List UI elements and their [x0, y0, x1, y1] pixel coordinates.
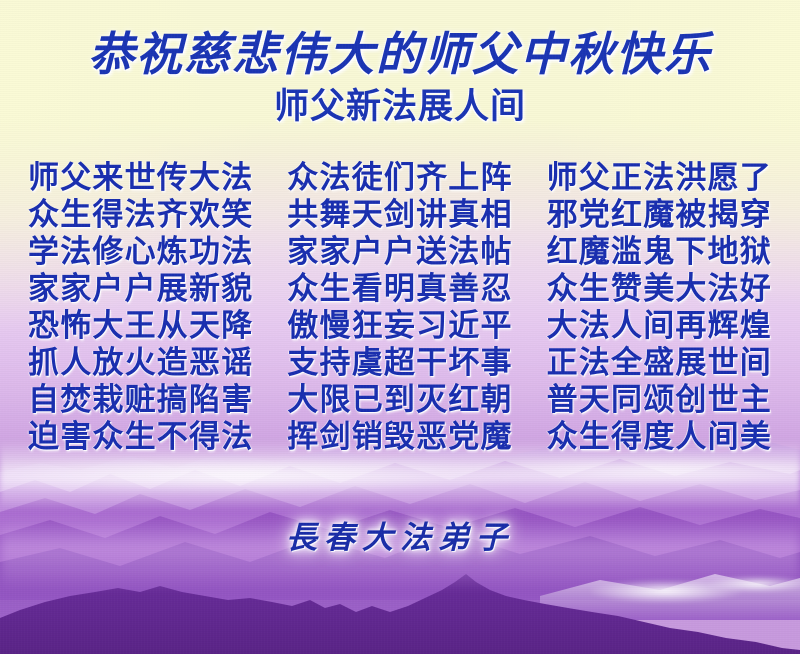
poem-line: 支持虞超干坏事: [287, 345, 512, 382]
signature-line: 長春大法弟子: [0, 512, 800, 557]
poem-column-2: 众法徒们齐上阵 共舞天剑讲真相 家家户户送法帖 众生看明真善忍 傲慢狂妄习近平 …: [287, 160, 512, 456]
poem-line: 众生得法齐欢笑: [28, 197, 253, 234]
poem-line: 大限已到灭红朝: [287, 382, 512, 419]
poem-block: 师父来世传大法 众生得法齐欢笑 学法修心炼功法 家家户户展新貌 恐怖大王从天降 …: [28, 160, 772, 456]
poem-line: 众生看明真善忍: [287, 271, 512, 308]
poem-line: 众生得度人间美: [547, 419, 772, 456]
poem-line: 师父正法洪愿了: [547, 160, 772, 197]
poem-line: 正法全盛展世间: [547, 345, 772, 382]
poem-line: 家家户户送法帖: [287, 234, 512, 271]
poem-line: 自焚栽赃搞陷害: [28, 382, 253, 419]
poem-line: 学法修心炼功法: [28, 234, 253, 271]
poem-line: 抓人放火造恶谣: [28, 345, 253, 382]
poem-line: 众法徒们齐上阵: [287, 160, 512, 197]
card-content: 恭祝慈悲伟大的师父中秋快乐 师父新法展人间 师父来世传大法 众生得法齐欢笑 学法…: [0, 0, 800, 654]
poem-line: 邪党红魔被揭穿: [547, 197, 772, 234]
poem-line: 恐怖大王从天降: [28, 308, 253, 345]
poem-line: 众生赞美大法好: [547, 271, 772, 308]
page-title: 恭祝慈悲伟大的师父中秋快乐: [0, 18, 800, 84]
poem-line: 迫害众生不得法: [28, 419, 253, 456]
poem-column-3: 师父正法洪愿了 邪党红魔被揭穿 红魔滥鬼下地狱 众生赞美大法好 大法人间再辉煌 …: [547, 160, 772, 456]
poem-line: 大法人间再辉煌: [547, 308, 772, 345]
poem-column-1: 师父来世传大法 众生得法齐欢笑 学法修心炼功法 家家户户展新貌 恐怖大王从天降 …: [28, 160, 253, 456]
page-subtitle: 师父新法展人间: [0, 78, 800, 129]
poem-line: 共舞天剑讲真相: [287, 197, 512, 234]
greeting-card: 恭祝慈悲伟大的师父中秋快乐 师父新法展人间 师父来世传大法 众生得法齐欢笑 学法…: [0, 0, 800, 654]
poem-line: 普天同颂创世主: [547, 382, 772, 419]
poem-line: 傲慢狂妄习近平: [287, 308, 512, 345]
poem-line: 家家户户展新貌: [28, 271, 253, 308]
poem-line: 红魔滥鬼下地狱: [547, 234, 772, 271]
poem-line: 师父来世传大法: [28, 160, 253, 197]
poem-line: 挥剑销毁恶党魔: [287, 419, 512, 456]
